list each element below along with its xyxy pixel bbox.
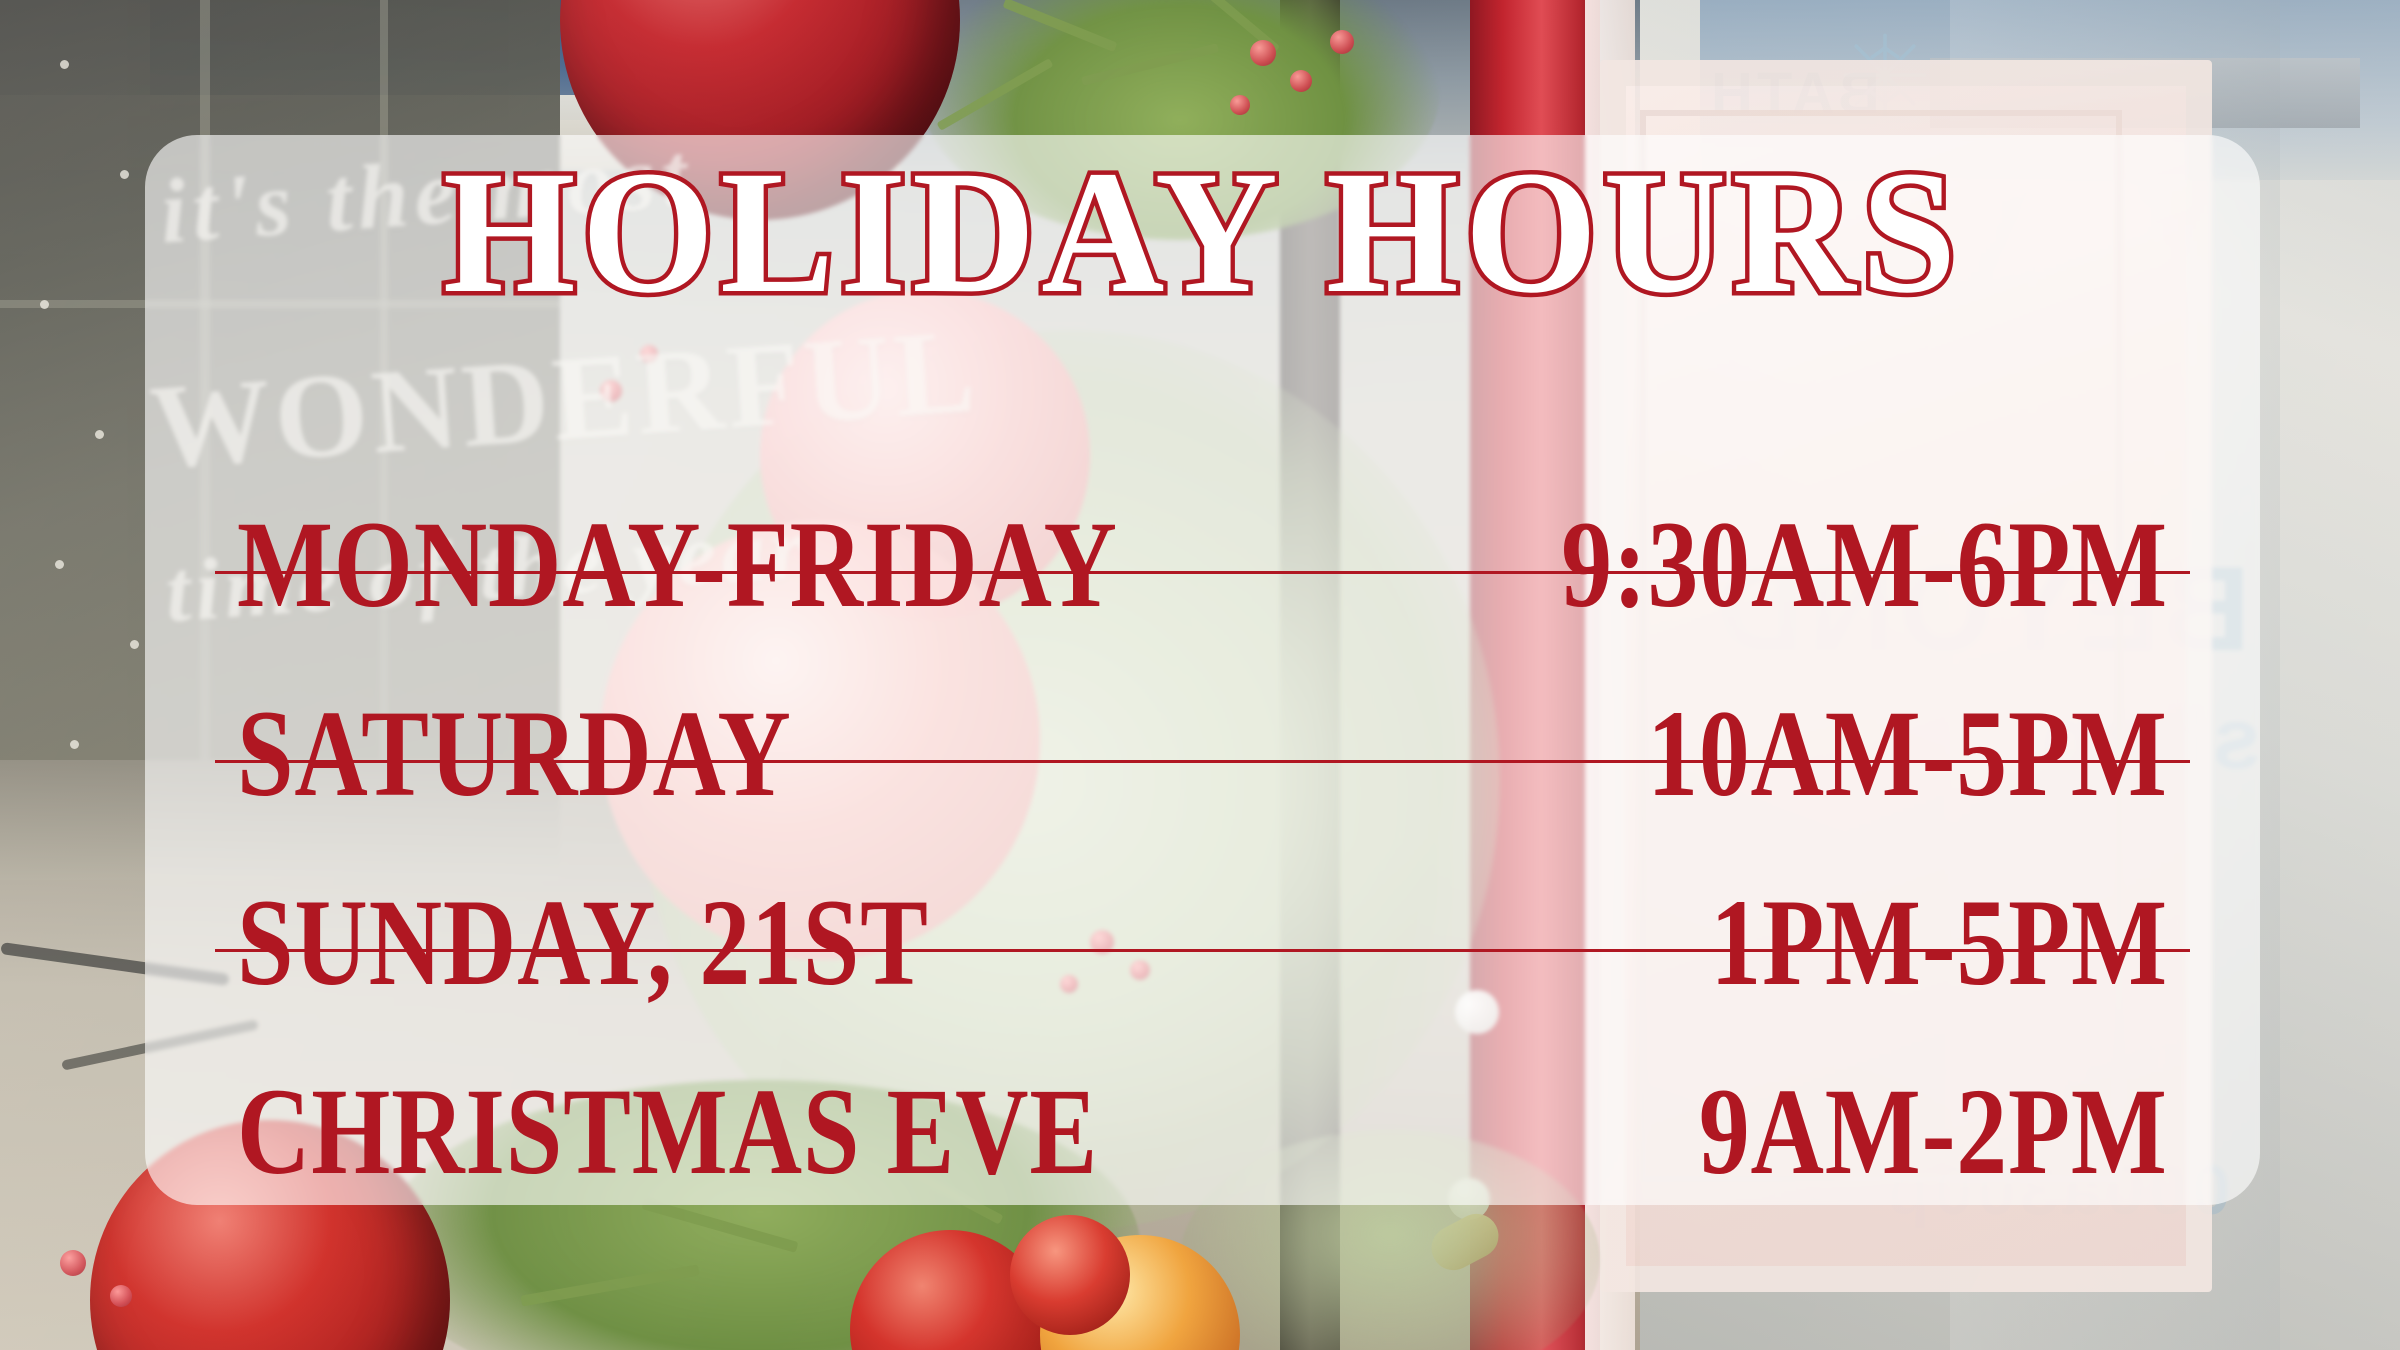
row-time-value: 9AM-2PM: [1699, 1070, 2168, 1194]
holiday-hours-card: HOLIDAY HOURS MONDAY-FRIDAY 9:30AM-6PM S…: [145, 135, 2260, 1205]
table-row: SUNDAY, 21ST 1PM-5PM: [215, 760, 2190, 949]
hours-table: MONDAY-FRIDAY 9:30AM-6PM SATURDAY 10AM-5…: [215, 385, 2190, 1138]
table-row: MONDAY-FRIDAY 9:30AM-6PM: [215, 385, 2190, 571]
table-row: CHRISTMAS EVE 9AM-2PM: [215, 949, 2190, 1138]
table-row: SATURDAY 10AM-5PM: [215, 571, 2190, 760]
screenshot-root: BEYOND shop 000a300p BATH: [0, 0, 2400, 1350]
page-title: HOLIDAY HOURS: [177, 145, 2229, 321]
row-day-label: CHRISTMAS EVE: [237, 1070, 1098, 1194]
